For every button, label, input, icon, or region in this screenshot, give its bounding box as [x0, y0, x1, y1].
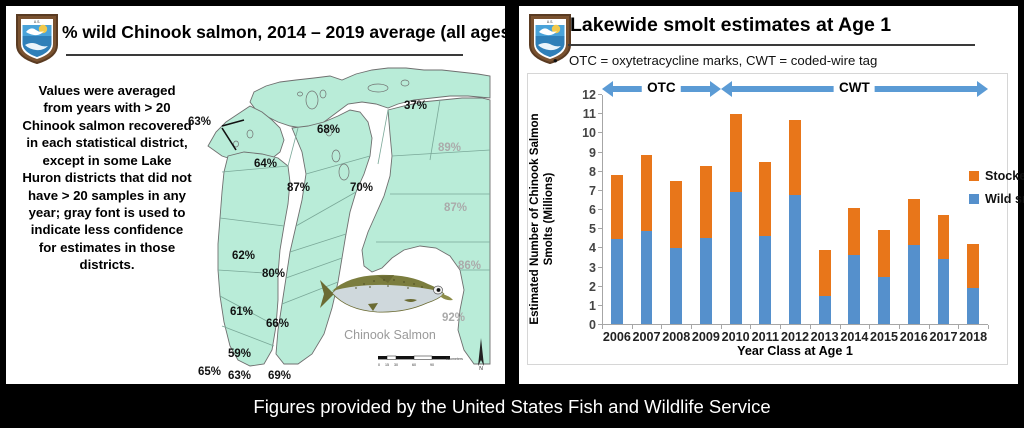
usfws-shield-logo: U.S.: [13, 12, 61, 65]
x-tick-label: 2013: [811, 330, 839, 344]
map-value-label: 87%: [287, 182, 310, 194]
map-value-label: 63%: [228, 370, 251, 382]
x-tick-label: 2018: [959, 330, 987, 344]
north-arrow-icon: N: [474, 336, 488, 370]
chart-title-divider: [568, 44, 975, 46]
bar-column[interactable]: [878, 230, 890, 325]
bar-segment-wild[interactable]: [670, 248, 682, 325]
chart-legend: Stocked smoltsWild smolts: [969, 169, 1024, 215]
x-tick-mark: [632, 325, 633, 329]
legend-swatch-icon: [969, 171, 979, 181]
x-tick-mark: [661, 325, 662, 329]
chart-bullet-note: •OTC = oxytetracycline marks, CWT = code…: [553, 53, 877, 68]
y-tick-label: 1: [589, 299, 596, 313]
plot-inner: 0123456789101112200620072008200920102011…: [602, 95, 988, 325]
x-tick-label: 2006: [603, 330, 631, 344]
map-value-label: 37%: [404, 100, 427, 112]
bar-segment-wild[interactable]: [967, 288, 979, 325]
annotation-label: CWT: [834, 78, 875, 97]
x-tick-mark: [988, 325, 989, 329]
bar-segment-stocked[interactable]: [700, 166, 712, 239]
x-tick-mark: [899, 325, 900, 329]
bar-segment-stocked[interactable]: [908, 199, 920, 244]
y-tick-label: 12: [582, 88, 596, 102]
x-tick-mark: [602, 325, 603, 329]
bar-segment-stocked[interactable]: [789, 120, 801, 194]
svg-text:0: 0: [378, 363, 380, 367]
x-tick-label: 2015: [870, 330, 898, 344]
legend-item[interactable]: Stocked smolts: [969, 169, 1024, 183]
bar-column[interactable]: [641, 155, 653, 325]
slide-root: U.S. % wild Chinook salmon, 2014 – 2019 …: [0, 0, 1024, 428]
bar-segment-wild[interactable]: [759, 236, 771, 325]
map-value-label: 65%: [198, 366, 221, 378]
bar-column[interactable]: [967, 244, 979, 325]
bar-segment-stocked[interactable]: [641, 155, 653, 231]
x-tick-label: 2012: [781, 330, 809, 344]
x-tick-label: 2014: [840, 330, 868, 344]
map-value-label: 63%: [188, 116, 211, 128]
svg-text:U.S.: U.S.: [547, 20, 554, 24]
bar-segment-wild[interactable]: [848, 255, 860, 325]
x-tick-mark: [721, 325, 722, 329]
x-tick-label: 2009: [692, 330, 720, 344]
legend-label: Stocked smolts: [985, 169, 1024, 183]
x-axis-label: Year Class at Age 1: [602, 344, 988, 358]
chinook-salmon-illustration: [316, 264, 456, 322]
x-tick-label: 2008: [662, 330, 690, 344]
map-value-label: 64%: [254, 158, 277, 170]
arrow-head-left-icon: [602, 81, 613, 97]
y-axis: [602, 95, 603, 325]
bar-segment-wild[interactable]: [641, 231, 653, 325]
bar-column[interactable]: [759, 162, 771, 325]
bar-column[interactable]: [908, 199, 920, 325]
map-caption-text: Values were averaged from years with > 2…: [22, 82, 192, 274]
svg-text:30: 30: [394, 363, 398, 367]
y-tick-label: 11: [583, 107, 596, 121]
map-value-label: 86%: [458, 260, 481, 272]
bar-column[interactable]: [700, 166, 712, 325]
x-tick-mark: [750, 325, 751, 329]
y-tick-label: 0: [589, 318, 596, 332]
arrow-head-left-icon: [721, 81, 732, 97]
map-value-label: 89%: [438, 142, 461, 154]
svg-text:60: 60: [412, 363, 416, 367]
x-tick-mark: [958, 325, 959, 329]
map-scale-bar: 0 15 30 60 90 Kilometers: [376, 354, 466, 368]
bar-segment-wild[interactable]: [938, 259, 950, 325]
svg-text:N: N: [479, 366, 483, 370]
arrow-head-right-icon: [977, 81, 988, 97]
y-tick-label: 4: [589, 241, 596, 255]
annotation-arrow-otc: OTC: [602, 79, 721, 97]
bar-column[interactable]: [819, 250, 831, 325]
x-tick-mark: [691, 325, 692, 329]
map-value-label: 66%: [266, 318, 289, 330]
plot-area: 0123456789101112200620072008200920102011…: [602, 95, 988, 325]
map-value-label: 59%: [228, 348, 251, 360]
bar-chart: Estimated Number of Chinook Salmon Smolt…: [527, 73, 1008, 365]
y-axis-label: Estimated Number of Chinook Salmon Smolt…: [528, 104, 556, 334]
lake-michigan-huron-map: 63% 64% 87% 68% 37% 70% 89% 87% 86% 92% …: [192, 64, 492, 369]
bar-column[interactable]: [848, 208, 860, 325]
arrow-head-right-icon: [710, 81, 721, 97]
bar-segment-wild[interactable]: [789, 195, 801, 325]
title-divider: [66, 54, 463, 56]
x-tick-mark: [780, 325, 781, 329]
legend-swatch-icon: [969, 194, 979, 204]
bar-segment-wild[interactable]: [908, 245, 920, 326]
bar-column[interactable]: [670, 181, 682, 325]
y-tick-label: 6: [589, 203, 596, 217]
svg-text:U.S.: U.S.: [34, 20, 41, 24]
svg-text:15: 15: [385, 363, 389, 367]
bar-segment-wild[interactable]: [878, 277, 890, 325]
bullet-dot-icon: •: [553, 53, 569, 68]
y-tick-label: 2: [589, 280, 596, 294]
bar-segment-stocked[interactable]: [938, 215, 950, 259]
bar-segment-wild[interactable]: [700, 238, 712, 325]
y-tick-label: 3: [589, 261, 596, 275]
bar-column[interactable]: [789, 120, 801, 325]
bar-segment-stocked[interactable]: [670, 181, 682, 248]
map-panel: U.S. % wild Chinook salmon, 2014 – 2019 …: [6, 6, 505, 384]
legend-label: Wild smolts: [985, 192, 1024, 206]
bar-column[interactable]: [611, 175, 623, 325]
y-tick-label: 5: [589, 222, 596, 236]
x-tick-mark: [810, 325, 811, 329]
x-tick-mark: [840, 325, 841, 329]
x-tick-label: 2016: [900, 330, 928, 344]
annotation-arrow-cwt: CWT: [721, 79, 988, 97]
x-tick-label: 2010: [722, 330, 750, 344]
bar-segment-stocked[interactable]: [967, 244, 979, 287]
bar-segment-wild[interactable]: [819, 296, 831, 325]
y-tick-label: 9: [589, 146, 596, 160]
legend-item[interactable]: Wild smolts: [969, 192, 1024, 206]
bar-column[interactable]: [938, 215, 950, 325]
annotation-label: OTC: [642, 78, 681, 97]
svg-text:90: 90: [430, 363, 434, 367]
bar-column[interactable]: [730, 114, 742, 325]
svg-text:Kilometers: Kilometers: [446, 357, 463, 361]
map-value-label: 61%: [230, 306, 253, 318]
map-value-label: 87%: [444, 202, 467, 214]
bar-segment-stocked[interactable]: [730, 114, 742, 192]
map-value-label: 62%: [232, 250, 255, 262]
bar-segment-stocked[interactable]: [759, 162, 771, 237]
x-tick-mark: [929, 325, 930, 329]
map-value-label: 68%: [317, 124, 340, 136]
y-tick-label: 10: [582, 126, 596, 140]
bar-segment-stocked[interactable]: [848, 208, 860, 255]
bullet-text: OTC = oxytetracycline marks, CWT = coded…: [569, 53, 877, 68]
x-tick-label: 2007: [633, 330, 661, 344]
page-title: % wild Chinook salmon, 2014 – 2019 avera…: [62, 22, 516, 43]
bar-segment-stocked[interactable]: [819, 250, 831, 296]
bar-segment-wild[interactable]: [730, 192, 742, 325]
map-value-label: 70%: [350, 182, 373, 194]
bar-segment-wild[interactable]: [611, 239, 623, 325]
y-tick-label: 7: [589, 184, 596, 198]
bar-segment-stocked[interactable]: [611, 175, 623, 239]
x-axis: [602, 324, 988, 325]
footer-credit: Figures provided by the United States Fi…: [0, 386, 1024, 428]
bar-segment-stocked[interactable]: [878, 230, 890, 277]
chart-page-title: Lakewide smolt estimates at Age 1: [570, 14, 891, 37]
map-value-label: 69%: [268, 370, 291, 382]
x-tick-label: 2011: [752, 330, 779, 344]
map-value-label: 80%: [262, 268, 285, 280]
x-tick-label: 2017: [929, 330, 957, 344]
salmon-caption: Chinook Salmon: [326, 328, 454, 342]
x-tick-mark: [869, 325, 870, 329]
y-tick-label: 8: [589, 165, 596, 179]
